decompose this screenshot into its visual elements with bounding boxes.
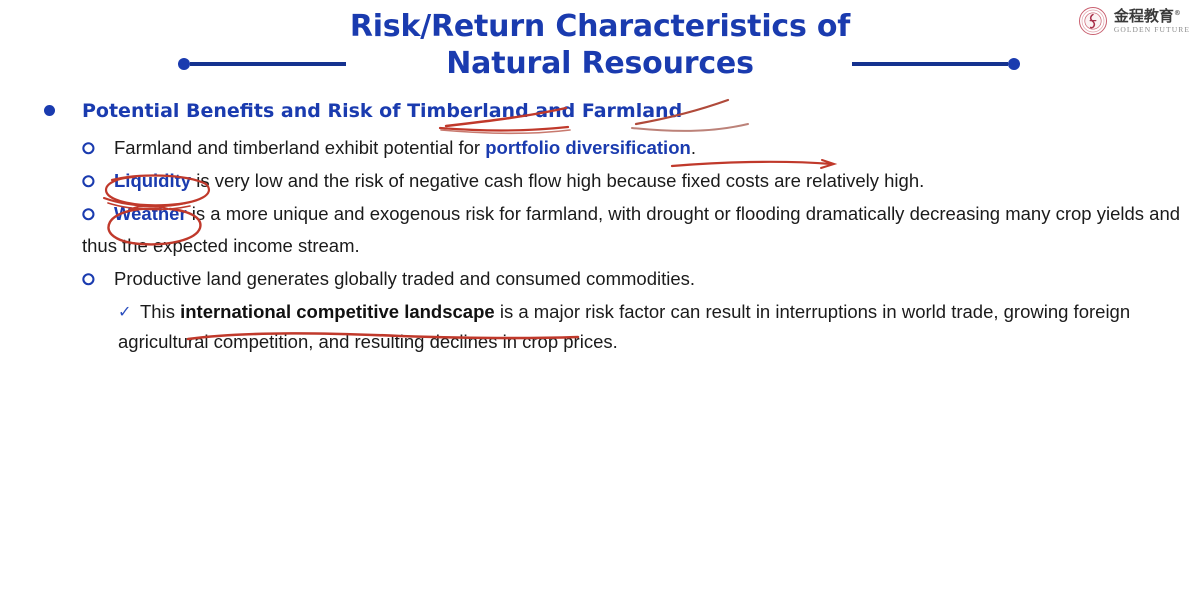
bullet-level1: Potential Benefits and Risk of Timberlan… <box>0 96 1200 126</box>
slide-title-line1: Risk/Return Characteristics of <box>300 8 900 45</box>
bullet-ring-icon: ⭘ <box>82 199 95 231</box>
list-item-text-pre: Productive land generates globally trade… <box>114 268 695 289</box>
slide-content: Potential Benefits and Risk of Timberlan… <box>0 96 1200 357</box>
list-item: ⭘ Productive land generates globally tra… <box>0 263 1200 295</box>
sub-list-item-emphasis: international competitive landscape <box>180 301 495 322</box>
rule-bar <box>190 62 346 66</box>
list-item: ⭘ Liquidity is very low and the risk of … <box>0 165 1200 197</box>
bullet-ring-icon: ⭘ <box>82 133 95 165</box>
rule-bar <box>852 62 1008 66</box>
list-item-text: Weather is a more unique and exogenous r… <box>82 203 1180 256</box>
list-item: ⭘ Farmland and timberland exhibit potent… <box>0 132 1200 164</box>
slide-title-area: Risk/Return Characteristics of Natural R… <box>0 8 1200 90</box>
list-item-text: Productive land generates globally trade… <box>114 268 695 289</box>
rule-dot-icon <box>178 58 190 70</box>
checkmark-icon: ✓ <box>118 297 131 329</box>
bullet-filled-circle-icon <box>44 105 55 116</box>
sub-list-item-text: This international competitive landscape… <box>118 301 1130 352</box>
slide-title: Risk/Return Characteristics of Natural R… <box>300 8 900 82</box>
sub-list-item-pre: This <box>140 301 180 322</box>
list-item-text-post: . <box>691 137 696 158</box>
list-item-text: Farmland and timberland exhibit potentia… <box>114 137 696 158</box>
sub-list-item: ✓ This international competitive landsca… <box>0 297 1200 357</box>
list-item-highlight: Weather <box>114 203 187 224</box>
title-rule-right <box>852 58 1020 70</box>
bullet-level1-label: Potential Benefits and Risk of Timberlan… <box>82 96 682 126</box>
bullet-ring-icon: ⭘ <box>82 264 95 296</box>
list-item-text-post: is a more unique and exogenous risk for … <box>82 203 1180 256</box>
slide-title-line2: Natural Resources <box>300 45 900 82</box>
title-rule-left <box>178 58 346 70</box>
list-item-text: Liquidity is very low and the risk of ne… <box>114 170 924 191</box>
bullet-ring-icon: ⭘ <box>82 166 95 198</box>
list-item: ⭘ Weather is a more unique and exogenous… <box>0 198 1200 262</box>
list-item-highlight: Liquidity <box>114 170 191 191</box>
list-item-highlight: portfolio diversification <box>485 137 691 158</box>
rule-dot-icon <box>1008 58 1020 70</box>
list-item-text-post: is very low and the risk of negative cas… <box>191 170 924 191</box>
list-item-text-pre: Farmland and timberland exhibit potentia… <box>114 137 485 158</box>
